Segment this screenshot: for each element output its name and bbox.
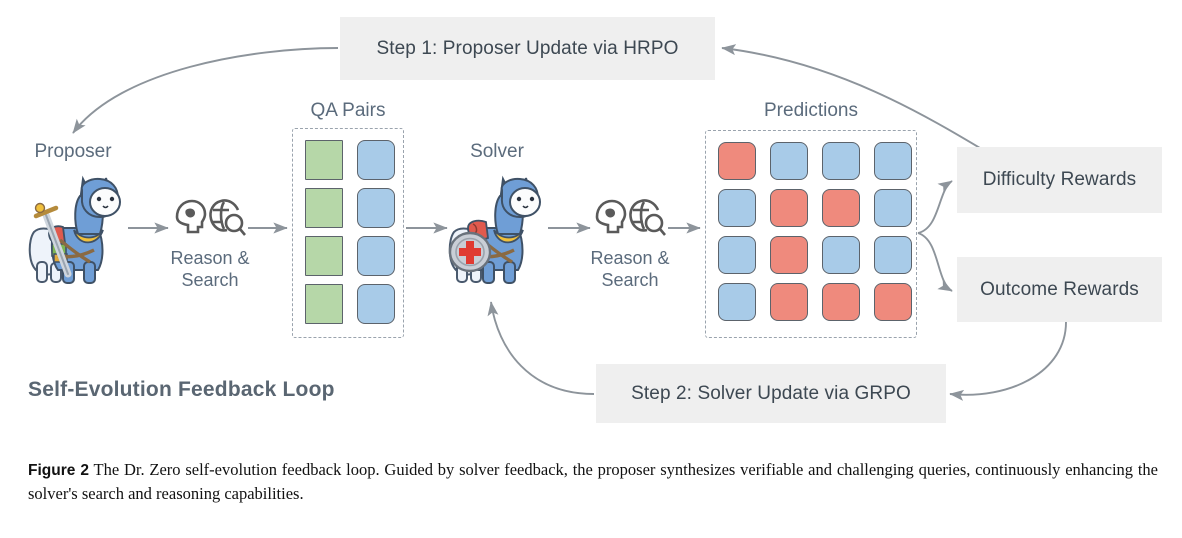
prediction-cell-r2-c4 [874,189,912,227]
prediction-cell-r3-c2 [770,236,808,274]
loop-title: Self-Evolution Feedback Loop [28,378,335,402]
reason-search-label-2: Reason & Search [570,248,690,292]
prediction-cell-r4-c3 [822,283,860,321]
reason-search-line-1: Reason & [570,248,690,270]
qa-pair-cell-r4-c1 [305,284,343,324]
prediction-cell-r1-c2 [770,142,808,180]
qa-pair-cell-r1-c1 [305,140,343,180]
step-2-box[interactable]: Step 2: Solver Update via GRPO [596,364,946,423]
difficulty-rewards-box[interactable]: Difficulty Rewards [957,147,1162,213]
llama-with-shield-icon [444,170,548,285]
reason-search-line-2: Search [150,270,270,292]
solver-label: Solver [442,141,552,163]
prediction-cell-r1-c3 [822,142,860,180]
qa-pair-cell-r2-c1 [305,188,343,228]
prediction-cell-r1-c1 [718,142,756,180]
figure-2-diagram: Step 1: Proposer Update via HRPO Step 2:… [0,0,1182,538]
prediction-cell-r2-c3 [822,189,860,227]
qa-pair-cell-r4-c2 [357,284,395,324]
figure-caption-label: Figure 2 [28,462,89,479]
qa-pairs-container [292,128,404,338]
proposer-label: Proposer [18,141,128,163]
qa-pairs-label: QA Pairs [292,100,404,122]
prediction-cell-r4-c4 [874,283,912,321]
reason-search-line-1: Reason & [150,248,270,270]
outcome-rewards-box[interactable]: Outcome Rewards [957,257,1162,322]
qa-pair-cell-r3-c1 [305,236,343,276]
predictions-label: Predictions [705,100,917,122]
prediction-cell-r3-c1 [718,236,756,274]
qa-pair-cell-r3-c2 [357,236,395,276]
prediction-cell-r3-c3 [822,236,860,274]
figure-caption-text: The Dr. Zero self-evolution feedback loo… [28,460,1158,503]
difficulty-rewards-label: Difficulty Rewards [983,169,1137,191]
prediction-cell-r2-c2 [770,189,808,227]
reason-search-icons-1 [172,197,248,241]
prediction-cell-r4-c2 [770,283,808,321]
qa-pair-cell-r2-c2 [357,188,395,228]
prediction-cell-r4-c1 [718,283,756,321]
llama-with-sword-icon [24,170,128,285]
prediction-cell-r3-c4 [874,236,912,274]
shield-red-cross-icon [450,233,490,271]
predictions-container [705,130,917,338]
globe-search-icon [630,200,665,235]
prediction-cell-r1-c4 [874,142,912,180]
step-1-label: Step 1: Proposer Update via HRPO [376,38,678,60]
step-2-label: Step 2: Solver Update via GRPO [631,383,911,405]
globe-search-icon [210,200,245,235]
reason-search-label-1: Reason & Search [150,248,270,292]
figure-caption: Figure 2 The Dr. Zero self-evolution fee… [28,458,1158,506]
step-1-box[interactable]: Step 1: Proposer Update via HRPO [340,17,715,80]
outcome-rewards-label: Outcome Rewards [980,279,1139,301]
reason-search-icons-2 [592,197,668,241]
prediction-cell-r2-c1 [718,189,756,227]
reason-search-line-2: Search [570,270,690,292]
qa-pair-cell-r1-c2 [357,140,395,180]
